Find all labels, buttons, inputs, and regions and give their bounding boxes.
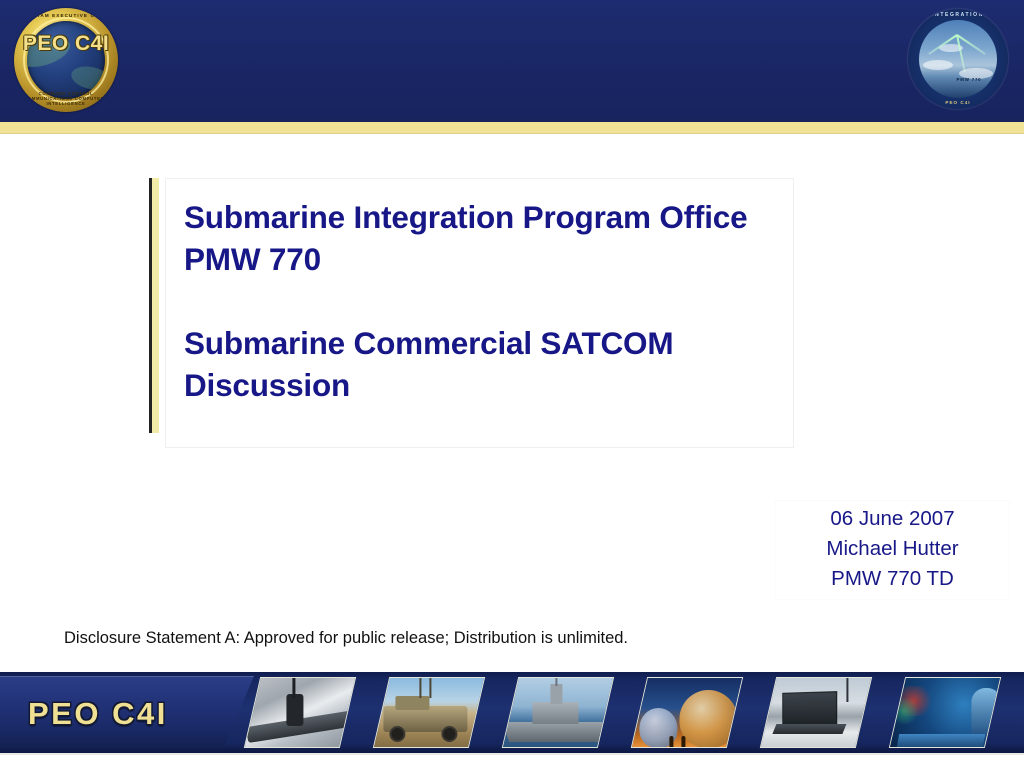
- navy-cruiser-photo-art: [502, 677, 614, 748]
- title-accent-bar-gold: [152, 178, 159, 433]
- footer-logo-text: PEO C4I: [28, 696, 168, 732]
- tactical-vehicle-photo: [373, 677, 485, 748]
- console-green-glow: [889, 698, 919, 724]
- pmw-770-integration-seal-icon: INTEGRATION PMW 770 PEO C4I: [908, 9, 1008, 109]
- laptop-terminal-photo-art: [760, 677, 872, 748]
- peo-seal-arc-bottom-text: COMMAND CONTROL COMMUNICATIONS COMPUTERS…: [14, 91, 118, 106]
- slide-title: Submarine Integration Program Office PMW…: [184, 196, 794, 406]
- vehicle-wheel: [389, 726, 405, 742]
- radome-site-photo-art: [631, 677, 743, 748]
- navy-cruiser-photo: [502, 677, 614, 748]
- laptop-terminal-photo: [760, 677, 872, 748]
- ship-hull: [502, 722, 614, 742]
- laptop-base: [772, 724, 846, 734]
- vehicle-wheel: [441, 726, 457, 742]
- silhouette-figure: [669, 736, 673, 748]
- ship-mast: [555, 677, 557, 686]
- presenter-title: PMW 770 TD: [775, 564, 1010, 594]
- ship-tower: [550, 684, 562, 704]
- operations-console-photo-art: [889, 677, 1001, 748]
- presenter-name: Michael Hutter: [775, 534, 1010, 564]
- header-band: [0, 0, 1024, 122]
- vehicle-antenna: [419, 677, 421, 698]
- radome-large: [679, 690, 737, 748]
- submarine-sail: [286, 694, 303, 726]
- submarine-photo: [244, 677, 356, 748]
- whip-antenna: [846, 677, 848, 702]
- operations-console-photo: [889, 677, 1001, 748]
- submarine-photo-art: [244, 677, 356, 748]
- peo-seal-arc-top-text: PROGRAM EXECUTIVE OFFICE: [14, 13, 118, 18]
- pmw-seal-ring-bottom-text: PEO C4I: [908, 100, 1008, 105]
- presentation-date: 06 June 2007: [775, 504, 1010, 534]
- console-panel: [896, 734, 986, 748]
- cloud-shape: [923, 60, 953, 70]
- header-accent-rule: [0, 122, 1024, 134]
- disclosure-statement: Disclosure Statement A: Approved for pub…: [64, 628, 628, 648]
- pmw-seal-scene: PMW 770: [919, 20, 997, 98]
- peo-c4i-seal-icon: PROGRAM EXECUTIVE OFFICE PEO C4I COMMAND…: [14, 8, 118, 112]
- submarine-mast: [292, 677, 295, 698]
- laptop-screen: [782, 691, 837, 727]
- radome-site-photo: [631, 677, 743, 748]
- peo-seal-label: PEO C4I: [14, 34, 118, 54]
- silhouette-figure: [681, 736, 685, 748]
- footer-thumbnail-strip: [246, 672, 1024, 753]
- author-block: 06 June 2007 Michael Hutter PMW 770 TD: [775, 504, 1010, 594]
- vehicle-cab: [395, 696, 429, 710]
- pmw-seal-ring-text: INTEGRATION: [908, 12, 1008, 18]
- pmw-seal-scene-label: PMW 770: [919, 77, 997, 82]
- vehicle-antenna: [429, 678, 431, 698]
- operator-silhouette: [971, 688, 1001, 738]
- tactical-vehicle-photo-art: [373, 677, 485, 748]
- ship-superstructure: [532, 702, 578, 724]
